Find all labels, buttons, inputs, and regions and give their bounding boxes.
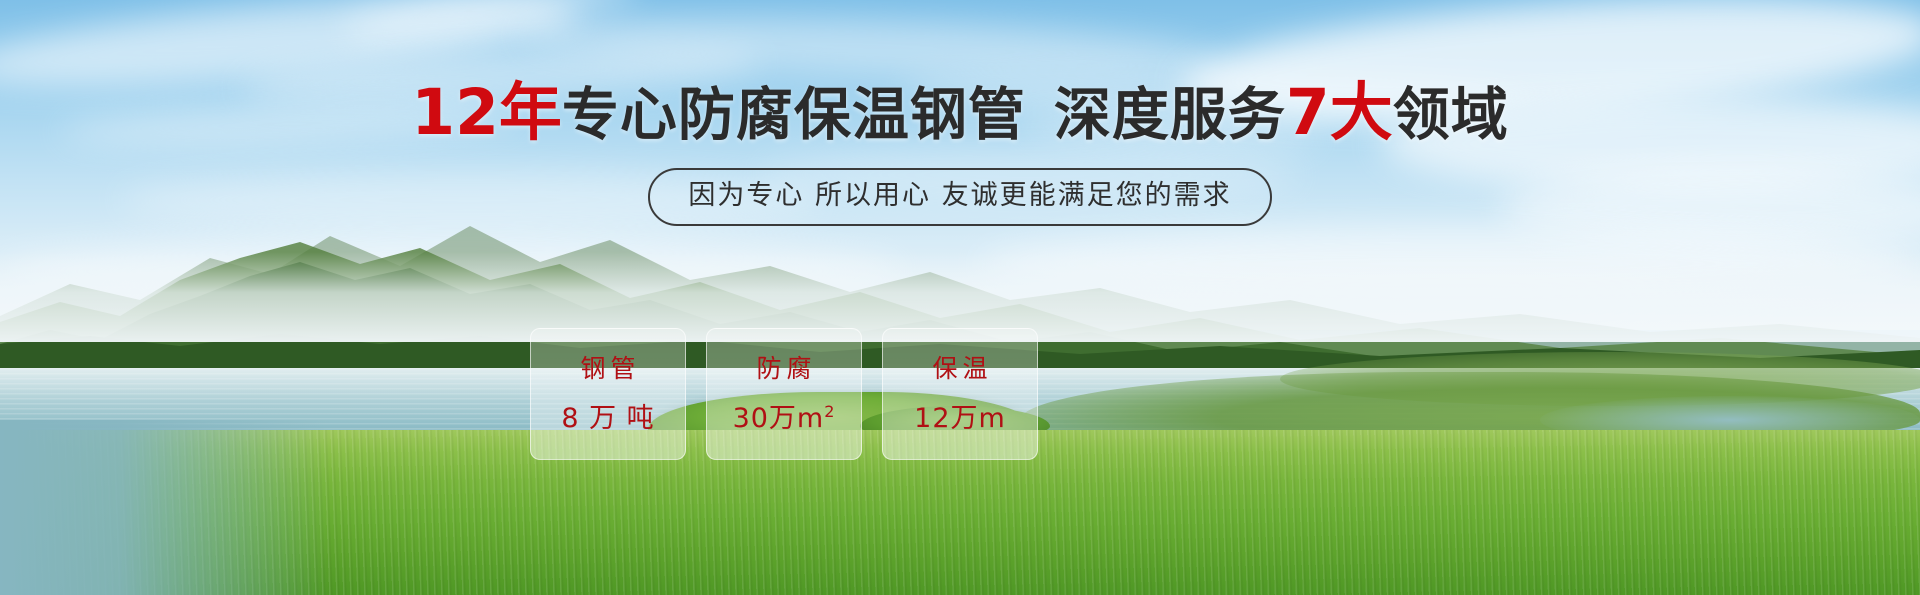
stat-card-group: 钢管 8 万 吨 防腐 30万m2 保温 12万m <box>530 328 1040 460</box>
banner-headline: 12年专心防腐保温钢管深度服务7大领域 <box>0 82 1920 146</box>
hero-banner: 12年专心防腐保温钢管深度服务7大领域 因为专心 所以用心 友诚更能满足您的需求… <box>0 0 1920 595</box>
banner-subtitle-pill: 因为专心 所以用心 友诚更能满足您的需求 <box>648 168 1271 226</box>
stat-card-value: 8 万 吨 <box>561 404 654 434</box>
stat-card-value-superscript: 2 <box>824 402 835 421</box>
stat-card-value-text: 12万m <box>914 403 1006 434</box>
headline-main-text: 专心防腐保温钢管 <box>562 82 1026 148</box>
stat-card-label: 钢管 <box>575 354 640 384</box>
stat-card-anticorrosion: 防腐 30万m2 <box>706 328 862 460</box>
stat-card-label: 防腐 <box>751 354 816 384</box>
headline-years-highlight: 12年 <box>411 76 562 149</box>
stat-card-value-text: 30万m <box>733 403 825 434</box>
headline-fields-text: 领域 <box>1393 82 1509 148</box>
stat-card-value-text: 8 万 吨 <box>561 403 654 434</box>
headline-da-highlight: 大 <box>1330 76 1393 149</box>
stat-card-steel-pipe: 钢管 8 万 吨 <box>530 328 686 460</box>
banner-content: 12年专心防腐保温钢管深度服务7大领域 因为专心 所以用心 友诚更能满足您的需求… <box>0 0 1920 595</box>
headline-service-text: 深度服务 <box>1054 82 1286 148</box>
stat-card-insulation: 保温 12万m <box>882 328 1038 460</box>
headline-seven-highlight: 7 <box>1286 76 1330 149</box>
banner-subtitle-container: 因为专心 所以用心 友诚更能满足您的需求 <box>0 168 1920 226</box>
stat-card-label: 保温 <box>927 354 992 384</box>
stat-card-value: 30万m2 <box>733 404 836 434</box>
stat-card-value: 12万m <box>914 404 1006 434</box>
